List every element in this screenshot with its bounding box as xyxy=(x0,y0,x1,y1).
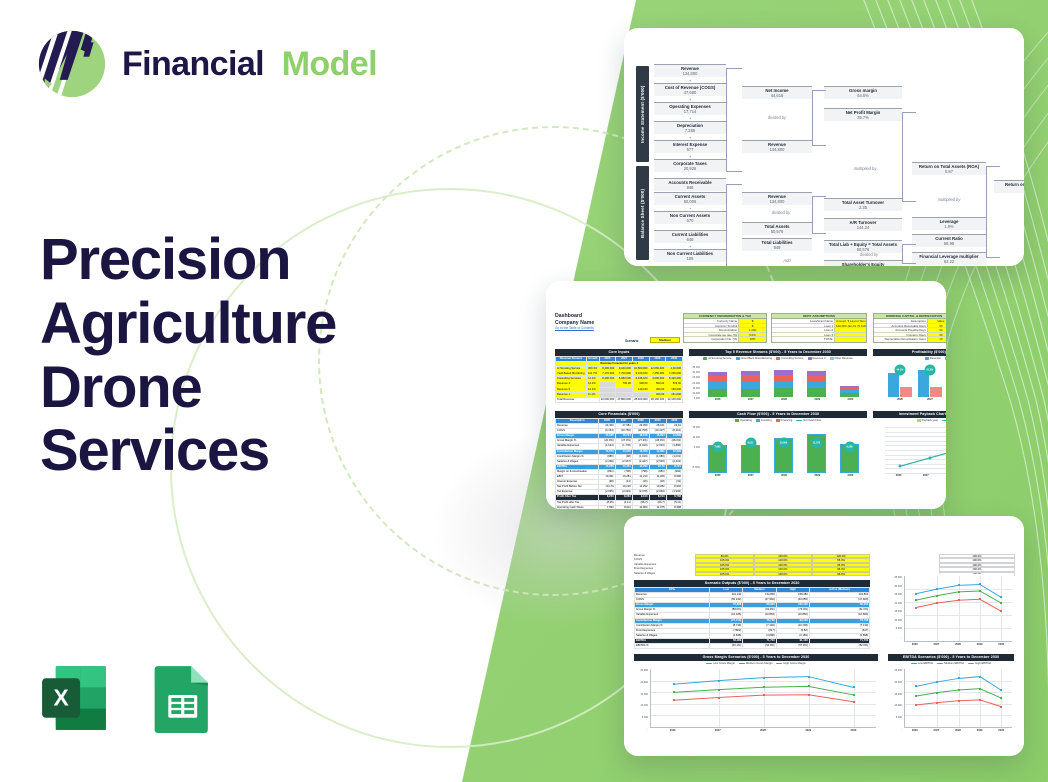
chart-legend: Ai Scouting ServiceCloud Back Manufactur… xyxy=(689,356,867,360)
legend-swatch xyxy=(911,663,917,664)
table-of-contents-link[interactable]: Go to the Table of Contents xyxy=(555,326,594,330)
scenario-outputs-table: KPIsLowMediumHighActive (Medium)Revenue1… xyxy=(634,587,870,649)
assumption-row-value: 140,000 Jan-31 72 6.0% Maturity xyxy=(834,324,866,328)
scenario-outputs-panel: Scenario Outputs ($'000) - 5 Years to De… xyxy=(634,580,870,649)
dashboard-assumption-box-1: DEBT ASSUMPTIONSLoan/Grant NameAmount, $… xyxy=(771,313,867,343)
table-cell: 12,060,000 xyxy=(649,367,666,372)
x-tick: 2028 xyxy=(767,474,800,481)
chart-data-point xyxy=(979,676,981,678)
chart-legend: Low Gross MarginMedium Gross MarginHigh … xyxy=(634,661,878,665)
x-tick: 2026 xyxy=(701,398,734,405)
dashboard-assumption-box-2: WORKING CAPITAL & DEPRECIATIONAssumption… xyxy=(873,313,946,343)
y-tick: 20,000 xyxy=(894,602,902,605)
y-tick: 30,000 xyxy=(692,371,700,374)
chart-data-point xyxy=(915,607,917,609)
flow-node-value: 0.87 xyxy=(912,169,986,174)
chart-data-bubble: 7,993 xyxy=(712,442,723,453)
x-tick: 2027 xyxy=(695,729,740,736)
flow-node-net-profit-margin: Net Profit Margin35.7% xyxy=(824,108,902,121)
legend-swatch xyxy=(917,419,921,422)
x-tick: 2027 xyxy=(734,398,767,405)
y-tick: 10,000 xyxy=(640,704,648,707)
flow-node-is-1: Cost of Revenue (COGS)47,680 xyxy=(654,83,726,96)
dashboard-panel-investment-payback: Investment Payback Chart ($'000) - 5 Yea… xyxy=(873,411,946,481)
assumption-row-value: Value xyxy=(927,319,946,323)
chart-data-point xyxy=(673,691,675,693)
flow-connector-1 xyxy=(726,184,742,266)
y-tick: 5,000 xyxy=(896,627,902,630)
flow-node-bs-1: Current Assets50,006 xyxy=(654,192,726,205)
chart-bar-column xyxy=(807,366,825,397)
chart-plot: 44.1%41.2%43.3%42.1%38.6% xyxy=(885,366,946,397)
chart-data-point xyxy=(1000,706,1002,708)
flow-node-financial-leverage: Financial Leverage multiplier63.22 xyxy=(912,252,986,265)
chart-data-bubble: 8,308 xyxy=(844,442,855,453)
flow-node-ar-turnover: A/R Turnover144.24 xyxy=(824,218,902,231)
legend-item: Operating xyxy=(735,419,752,422)
assumption-row-value: 30 xyxy=(927,328,946,332)
chart-y-axis: 35,00030,00025,00020,00015,00010,0005,00… xyxy=(888,576,903,642)
legend-item: Consulting Service xyxy=(776,357,803,360)
chart-x-axis: 20262027202820292030 xyxy=(701,474,867,481)
table-cell: 8,400,000 xyxy=(599,377,616,382)
y-tick: 30,000 xyxy=(894,585,902,588)
x-tick: 2030 xyxy=(831,729,876,736)
flow-plus-6: + xyxy=(689,244,691,249)
x-tick: 2029 xyxy=(801,474,834,481)
assumption-label: Salaries & Wages xyxy=(634,572,695,576)
legend-item: EBITDA xyxy=(945,357,946,360)
x-tick: 2028 xyxy=(945,398,946,405)
y-tick: 5,000 xyxy=(694,397,700,400)
chart-x-axis: 20262027202820292030 xyxy=(885,474,946,481)
flow-node-bs-0: Accounts Receivable948 xyxy=(654,178,726,191)
assumption-value: 95.0% xyxy=(812,572,870,576)
total-cell: 20,000,000 xyxy=(599,397,616,402)
assumption-value: 100.0% xyxy=(754,572,812,576)
assumption-row-value: 30 xyxy=(927,324,946,328)
panel-body: Description20262027202820292030Revenue24… xyxy=(555,418,683,481)
chart-bar-segment xyxy=(708,382,726,389)
chart-bar-column xyxy=(708,366,726,397)
table-cell: 8,308 xyxy=(666,505,682,509)
chart-bar-operating xyxy=(741,445,761,473)
y-tick: - xyxy=(699,456,700,459)
legend-item: Low EBITDA xyxy=(911,662,933,665)
column-header: Growth xyxy=(586,357,599,362)
dashboard-panel-core-inputs: Core InputsRevenue StreamsGrowth20262027… xyxy=(555,349,683,405)
chart-data-point xyxy=(763,686,765,688)
table-row: EBITDA %(40.1%)(52.0%)(57.0%)(52.0%) xyxy=(635,644,870,649)
flow-node-value: 50,006 xyxy=(654,199,726,204)
chart-data-point xyxy=(1000,610,1002,612)
flow-node-total-liabilities: Total Liabilities949 xyxy=(742,238,812,251)
dashboard-panel-core-financials: Core Financials ($'000)Description202620… xyxy=(555,411,683,481)
x-tick: 2028 xyxy=(947,643,969,650)
assumption-row-label: Corporate tax rate (%) xyxy=(684,333,738,337)
table-row: Consulting Services14.1%8,400,0006,080,0… xyxy=(556,377,683,382)
assumption-row-label: Inventory Days xyxy=(874,333,927,337)
assumption-row-label: Accounts Payable Days xyxy=(874,328,927,332)
chart-y-axis: 25,00020,00015,00010,0005,000- xyxy=(634,669,649,728)
table-cell: Operating Cash Flows xyxy=(556,505,599,509)
flow-node-value: 134,800 xyxy=(742,147,812,152)
chart-bar-segment xyxy=(774,381,792,388)
flow-operator-1: multiplied by xyxy=(840,166,890,171)
flow-node-bs-3: Current Liabilities648 xyxy=(654,230,726,243)
x-tick: 2027 xyxy=(926,729,948,736)
total-cell: 28,400,000 xyxy=(632,397,649,402)
flow-node-bs-2: Non Current Assets570 xyxy=(654,211,726,224)
scenario-chart-scenario-overview-chart: 35,00030,00025,00020,00015,00010,0005,00… xyxy=(888,574,1014,650)
assumption-row: TOTAL xyxy=(772,337,866,342)
scenario-assumptions: Revenue80.0%100.0%120.0%COGS105.0%100.0%… xyxy=(634,554,870,576)
assumption-row-label: Currency Symbol xyxy=(684,324,738,328)
panel-title: Top 5 Revenue Streams ($'000) - 5 Years … xyxy=(689,349,867,356)
dashboard-assumption-box-0: CURRENCY DENOMINATION & TAXCurrency Name… xyxy=(683,313,767,343)
total-cell: 42,100,000 xyxy=(666,397,683,402)
chart-data-point xyxy=(1000,602,1002,604)
y-tick: 35,000 xyxy=(692,366,700,369)
page-title: Precision Agriculture Drone Services xyxy=(40,228,440,483)
chart-data-bubble: 44.1% xyxy=(894,364,905,375)
flow-node-leverage: Leverage1.9% xyxy=(912,217,986,230)
chart-data-point xyxy=(936,588,938,590)
flow-plus-0: + xyxy=(689,78,691,83)
chart-data-point xyxy=(718,697,720,699)
table-cell: 7,200,000 xyxy=(666,372,683,377)
table-cell: Yield Based Monitoring xyxy=(556,372,587,377)
flow-node-liab-equity-assets: Total Liab + Equity = Total Assets50,576 xyxy=(824,240,902,253)
dashboard-panel-top-5-revenue-streams: Top 5 Revenue Streams ($'000) - 5 Years … xyxy=(689,349,867,405)
chart-data-point xyxy=(979,688,981,690)
brand-lockup: Financial Model xyxy=(36,28,377,100)
panel-body: RevenueEBITDAEBITDA %44.1%41.2%43.3%42.1… xyxy=(873,356,946,405)
chart-plot xyxy=(904,669,1012,728)
x-tick: 2028 xyxy=(767,398,800,405)
chart-bar-column xyxy=(807,427,827,473)
flow-node-revenue-1: Revenue134,800 xyxy=(742,140,812,153)
legend-swatch xyxy=(937,663,943,664)
table-cell: 8,011 xyxy=(615,505,632,509)
legend-swatch xyxy=(776,419,780,422)
flow-node-value: 64.6% xyxy=(824,93,902,98)
scenario-value[interactable]: Medium xyxy=(650,337,680,343)
legend-swatch xyxy=(776,357,780,360)
dashboard-card[interactable]: Dashboard Company Name Go to the Table o… xyxy=(546,281,946,509)
flow-node-value: 948 xyxy=(654,185,726,190)
chart-bar-ebitda xyxy=(930,387,941,397)
flow-node-value: 1.9% xyxy=(912,224,986,229)
chart-data-point xyxy=(673,683,675,685)
table-cell: (57.0%) xyxy=(776,644,809,649)
chart-data-point xyxy=(979,583,981,585)
flow-operator-0: divided by xyxy=(752,115,802,120)
assumption-row-label: Currency Name xyxy=(684,319,738,323)
assumption-row-value: $ xyxy=(738,324,766,328)
chart-data-bubble: 11,075 xyxy=(811,437,822,448)
core-inputs-table: Revenue StreamsGrowth2026202720282029203… xyxy=(555,356,683,403)
chart-bar-segment xyxy=(807,388,825,397)
flow-plus-1: + xyxy=(689,97,691,102)
x-tick: 2027 xyxy=(734,474,767,481)
flow-connector-4 xyxy=(902,112,916,202)
assumption-row-label: Loan 2 xyxy=(772,328,834,332)
x-tick: 2030 xyxy=(834,398,867,405)
chart-bar-ebitda xyxy=(900,387,911,397)
table-cell: 9,040,000 xyxy=(616,367,633,372)
scenario-label: Scenario xyxy=(625,339,638,343)
flow-node-total-asset-turnover: Total Asset Turnover2.35 xyxy=(824,198,902,211)
flow-node-is-3: Depreciation7,285 xyxy=(654,121,726,134)
chart-data-point xyxy=(936,595,938,597)
chart-y-axis: 15,00010,0005,000-(5,000) xyxy=(689,426,701,481)
panel-body: Low EBITDAMedium EBITDAHigh EBITDA25,000… xyxy=(888,661,1014,736)
panel-title: Core Financials ($'000) xyxy=(555,411,683,418)
chart-data-point xyxy=(808,676,810,678)
flow-node-value: 570 xyxy=(654,218,726,223)
flow-node-value: 50,576 xyxy=(742,229,812,234)
flow-node-value: 134,800 xyxy=(742,199,812,204)
chart-data-point xyxy=(958,689,960,691)
chart-data-point xyxy=(958,700,960,702)
panel-body: OperatingInvestingFinancingNet Cash Flow… xyxy=(689,418,867,481)
legend-item: Revenue 4 xyxy=(808,357,826,360)
assumption-row-label: Assumption xyxy=(874,319,927,323)
legend-swatch xyxy=(776,663,782,664)
flow-operator-3: Add xyxy=(762,258,812,263)
financial-model-logo-icon xyxy=(36,28,108,100)
chart-legend: OperatingInvestingFinancingNet Cash Flow xyxy=(689,418,867,422)
flow-node-net-income: Net Income44,618 xyxy=(742,86,812,99)
legend-item: Medium EBITDA xyxy=(937,662,964,665)
chart-legend: RevenueEBITDAEBITDA % xyxy=(873,356,946,360)
legend-swatch xyxy=(735,419,739,422)
flow-node-value: 577 xyxy=(654,147,726,152)
dashboard-title: Dashboard Company Name xyxy=(555,313,594,327)
legend-swatch xyxy=(706,663,712,664)
x-tick: 2028 xyxy=(740,729,785,736)
chart-data-point xyxy=(936,681,938,683)
table-cell: 8,420,000 xyxy=(666,377,683,382)
scenario-chart-ebitda-scenarios-chart: EBITDA Scenarios ($'000) - 5 Years to De… xyxy=(888,654,1014,736)
legend-swatch xyxy=(756,419,760,422)
chart-data-point xyxy=(1000,689,1002,691)
y-tick: - xyxy=(901,728,902,731)
x-tick: 2027 xyxy=(926,643,948,650)
flow-node-value: 17,714 xyxy=(654,109,726,114)
payback-line xyxy=(885,427,946,473)
x-tick: 2026 xyxy=(904,643,926,650)
scenario-sheet: Revenue80.0%100.0%120.0%COGS105.0%100.0%… xyxy=(634,554,1015,738)
y-tick: 15,000 xyxy=(692,387,700,390)
legend-item: Revenue xyxy=(925,357,941,360)
chart-data-point xyxy=(718,680,720,682)
legend-swatch xyxy=(945,357,946,360)
dupont-analysis-card[interactable]: Income Statement ($'000)Balance Sheet ($… xyxy=(624,28,1024,266)
panel-title: Core Inputs xyxy=(555,349,683,356)
legend-item: Medium Gross Margin xyxy=(739,662,772,665)
chart-data-point xyxy=(915,599,917,601)
panel-body: 35,00030,00025,00020,00015,00010,0005,00… xyxy=(888,574,1014,650)
y-tick: (5,000) xyxy=(692,466,700,469)
legend-swatch xyxy=(739,663,745,664)
y-tick: 20,000 xyxy=(640,681,648,684)
chart-bars xyxy=(701,427,866,473)
dupont-flowchart: Income Statement ($'000)Balance Sheet ($… xyxy=(634,62,1016,248)
flow-connector-0 xyxy=(726,68,742,172)
y-tick: 15,000 xyxy=(692,426,700,429)
scenario-analysis-card[interactable]: Revenue80.0%100.0%120.0%COGS105.0%100.0%… xyxy=(624,516,1024,756)
y-tick: 25,000 xyxy=(894,669,902,672)
assumption-row-label: Loan/Grant Name xyxy=(772,319,834,323)
panel-title: EBITDA Scenarios ($'000) - 5 Years to De… xyxy=(888,654,1014,661)
panel-body: KPIsLowMediumHighActive (Medium)Revenue1… xyxy=(634,587,870,649)
chart-data-bubble: 8,011 xyxy=(745,437,756,448)
assumption-row-label: Depreciation/Amortisation Years xyxy=(874,337,927,342)
flow-node-value: 20,926 xyxy=(654,166,726,171)
chart-data-point xyxy=(958,677,960,679)
assumption-row-value: Amount, $ Layout Term, Months Interest, … xyxy=(834,319,866,323)
assumption-row: Salaries & Wages105.0%100.0%95.0% xyxy=(634,572,870,576)
chart-bar-column xyxy=(774,427,794,473)
chart-data-point xyxy=(979,590,981,592)
core-financials-table: Description20262027202820292030Revenue24… xyxy=(555,418,683,509)
chart-legend: Payback yearCumulative Cash Generated (S… xyxy=(873,418,946,422)
flow-node-value: 134,800 xyxy=(654,71,726,76)
table-cell: 11,075 xyxy=(649,505,666,509)
y-tick: 35,000 xyxy=(894,576,902,579)
legend-item: Other Revenue xyxy=(830,357,853,360)
chart-plot xyxy=(885,427,946,473)
x-tick: 2029 xyxy=(969,729,991,736)
chart-data-point xyxy=(808,685,810,687)
panel-title: Cash Flow ($'000) - 5 Years to December … xyxy=(689,411,867,418)
chart-bar-segment xyxy=(840,393,858,397)
brand-word-model: Model xyxy=(282,45,377,83)
chart-data-point xyxy=(853,686,855,688)
panel-body: Payback yearCumulative Cash Generated (S… xyxy=(873,418,946,481)
y-tick: 25,000 xyxy=(692,376,700,379)
panel-body: Revenue StreamsGrowth2026202720282029203… xyxy=(555,356,683,405)
panel-title: Scenario Outputs ($'000) - 5 Years to De… xyxy=(634,580,870,587)
flow-node-roa: Return on Total Assets (ROA)0.87 xyxy=(912,162,986,175)
y-tick: 15,000 xyxy=(640,693,648,696)
y-tick: 5,000 xyxy=(896,716,902,719)
google-sheets-icon xyxy=(144,660,220,736)
flow-node-value: 7,285 xyxy=(654,128,726,133)
file-format-icons: X xyxy=(36,660,220,736)
dupont-band-income-statement: Income Statement ($'000) xyxy=(636,66,649,162)
flow-node-revenue-2: Revenue134,800 xyxy=(742,192,812,205)
assumption-row-value: $ xyxy=(738,319,766,323)
chart-data-point xyxy=(915,593,917,595)
x-tick: 2026 xyxy=(650,729,695,736)
legend-swatch xyxy=(830,357,834,360)
table-cell: 7,170,000 xyxy=(599,372,616,377)
flow-connector-5 xyxy=(902,244,916,264)
y-tick: - xyxy=(901,636,902,639)
dupont-band-balance-sheet: Balance Sheet ($'000) xyxy=(636,166,649,260)
chart-bar-column xyxy=(741,427,761,473)
chart-x-axis: 20262027202820292030 xyxy=(904,729,1012,736)
column-header: Revenue Streams xyxy=(556,357,587,362)
chart-data-point xyxy=(763,677,765,679)
legend-item: Cloud Back Manufacturing xyxy=(736,357,773,360)
legend-item: Ai Scouting Service xyxy=(703,357,731,360)
chart-bar-column xyxy=(741,366,759,397)
assumption-row-label: Accounts Receivable Days xyxy=(874,324,927,328)
flow-operator-2: divided by xyxy=(756,210,806,215)
total-label: Total Revenue xyxy=(556,397,600,402)
assumption-row-value: 10 xyxy=(927,337,946,342)
chart-data-bubble: 10,004 xyxy=(778,437,789,448)
microsoft-excel-icon: X xyxy=(36,660,112,736)
table-cell: 7,250,000 xyxy=(649,372,666,377)
flow-plus-3: + xyxy=(689,135,691,140)
legend-item: Net Cash Flow xyxy=(796,419,821,422)
flow-connector-2 xyxy=(812,90,826,146)
table-row: Operating Cash Flows7,9938,01110,00411,0… xyxy=(556,505,683,509)
y-tick: 15,000 xyxy=(894,693,902,696)
x-tick: 2030 xyxy=(834,474,867,481)
chart-data-point xyxy=(936,692,938,694)
chart-data-point xyxy=(763,694,765,696)
chart-data-point xyxy=(936,602,938,604)
chart-data-point xyxy=(673,699,675,701)
chart-plot xyxy=(701,366,866,397)
assumption-row-value: 18% xyxy=(738,337,766,342)
chart-bars xyxy=(701,366,866,397)
flow-node-value: 2.35 xyxy=(824,205,902,210)
y-tick: 20,000 xyxy=(692,382,700,385)
scenario-chart-gross-margin-scenarios-chart: Gross Margin Scenarios ($'000) - 5 Years… xyxy=(634,654,878,736)
chart-data-point xyxy=(928,456,931,459)
y-tick: 5,000 xyxy=(694,446,700,449)
table-cell: 4,000,000 xyxy=(649,377,666,382)
legend-swatch xyxy=(703,357,707,360)
chart-data-point xyxy=(898,465,901,468)
y-tick: 15,000 xyxy=(894,610,902,613)
chart-data-point xyxy=(915,685,917,687)
y-tick: 10,000 xyxy=(692,436,700,439)
legend-item: High EBITDA xyxy=(968,662,991,665)
legend-swatch xyxy=(968,663,974,664)
chart-x-axis: 20262027202820292030 xyxy=(904,643,1012,650)
flow-node-is-0: Revenue134,800 xyxy=(654,64,726,77)
chart-bar-segment xyxy=(741,382,759,389)
assumption-row-label: TOTAL xyxy=(772,337,834,342)
legend-swatch xyxy=(736,357,740,360)
legend-item: Investing xyxy=(756,419,772,422)
table-cell: (40.1%) xyxy=(710,644,743,649)
flow-node-is-5: Corporate Taxes20,926 xyxy=(654,159,726,172)
legend-item: Financing xyxy=(776,419,793,422)
chart-data-point xyxy=(958,599,960,601)
y-tick: 25,000 xyxy=(894,593,902,596)
chart-bar-segment xyxy=(741,389,759,397)
flow-operator-4: divided by xyxy=(844,252,894,257)
chart-data-point xyxy=(979,699,981,701)
table-cell: EBITDA % xyxy=(635,644,710,649)
chart-data-point xyxy=(979,598,981,600)
x-tick: 2027 xyxy=(912,474,939,481)
flow-node-value: 648 xyxy=(654,237,726,242)
y-tick: 20,000 xyxy=(894,681,902,684)
flow-node-value: 949 xyxy=(742,245,812,250)
chart-data-point xyxy=(808,694,810,696)
flow-node-bs-4: Non Current Liabilities109 xyxy=(654,249,726,262)
